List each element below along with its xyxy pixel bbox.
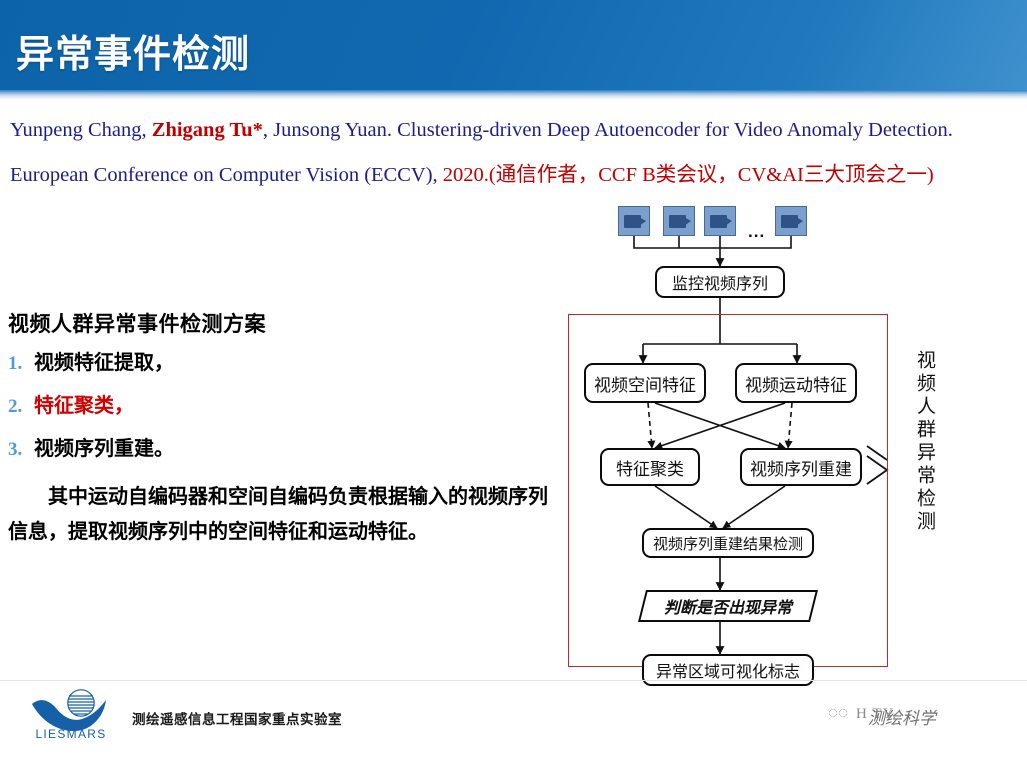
node-label: 视频序列重建 <box>750 455 852 480</box>
citation-author-highlight: Zhigang Tu* <box>152 119 263 141</box>
flowchart-diagram: ... <box>560 198 1020 678</box>
citation-venue: European Conference on Computer Vision (… <box>10 164 443 186</box>
node-motion-feature: 视频运动特征 <box>735 363 857 403</box>
node-feature-clustering: 特征聚类 <box>600 448 700 486</box>
watermark-mark-icon: ◌◌ <box>828 703 848 723</box>
list-item-label: 视频序列重建。 <box>34 432 174 461</box>
node-label: 特征聚类 <box>616 455 684 480</box>
node-label: 视频运动特征 <box>745 371 847 396</box>
list-item-label: 特征聚类， <box>34 389 134 418</box>
citation-year: 2020. <box>443 164 489 186</box>
node-label: 视频空间特征 <box>594 371 696 396</box>
citation-note-cn: (通信作者，CCF B类会议，CV&AI三大顶会之一) <box>489 164 934 186</box>
body-paragraph: 其中运动自编码器和空间自编码负责根据输入的视频序列信息，提取视频序列中的空间特征… <box>8 479 556 549</box>
list-item: 1. 视频特征提取， <box>8 346 556 375</box>
lab-name-label: 测绘遥感信息工程国家重点实验室 <box>132 708 342 728</box>
page-title: 异常事件检测 <box>16 23 250 78</box>
citation-author-first: Yunpeng Chang, <box>10 119 152 141</box>
watermark: ◌◌ H TY. 测绘科学 <box>828 700 1018 736</box>
list-item-number: 1. <box>8 353 34 375</box>
list-item-number: 3. <box>8 439 34 461</box>
node-label: 监控视频序列 <box>672 270 768 294</box>
node-label: 异常区域可视化标志 <box>656 658 800 682</box>
node-sequence-reconstruction: 视频序列重建 <box>740 448 862 486</box>
list-item-label: 视频特征提取， <box>34 346 174 375</box>
citation-block: Yunpeng Chang, Zhigang Tu*, Junsong Yuan… <box>10 108 1022 198</box>
list-item: 2. 特征聚类， <box>8 389 556 418</box>
scheme-heading: 视频人群异常事件检测方案 <box>8 308 556 338</box>
title-banner-underline <box>0 90 1027 99</box>
citation-title-rest: , Junsong Yuan. Clustering-driven Deep A… <box>263 119 953 141</box>
node-anomaly-decision: 判断是否出现异常 <box>642 590 814 622</box>
left-content-panel: 视频人群异常事件检测方案 1. 视频特征提取， 2. 特征聚类， 3. 视频序列… <box>8 308 556 549</box>
node-label: 视频序列重建结果检测 <box>653 533 803 554</box>
list-item-number: 2. <box>8 396 34 418</box>
node-spatial-feature: 视频空间特征 <box>584 363 706 403</box>
node-anomaly-visualization: 异常区域可视化标志 <box>642 654 814 686</box>
node-reconstruction-detection: 视频序列重建结果检测 <box>642 528 814 558</box>
node-source: 监控视频序列 <box>655 266 785 298</box>
list-item: 3. 视频序列重建。 <box>8 432 556 461</box>
watermark-cn-text: 测绘科学 <box>868 704 936 729</box>
node-label: 判断是否出现异常 <box>664 594 792 618</box>
group-vertical-label: 视频人群异常检测 <box>912 350 939 534</box>
liesmars-wordmark: LIESMARS <box>35 727 106 741</box>
footer-divider <box>0 680 1027 681</box>
liesmars-logo: LIESMARS <box>30 686 112 742</box>
